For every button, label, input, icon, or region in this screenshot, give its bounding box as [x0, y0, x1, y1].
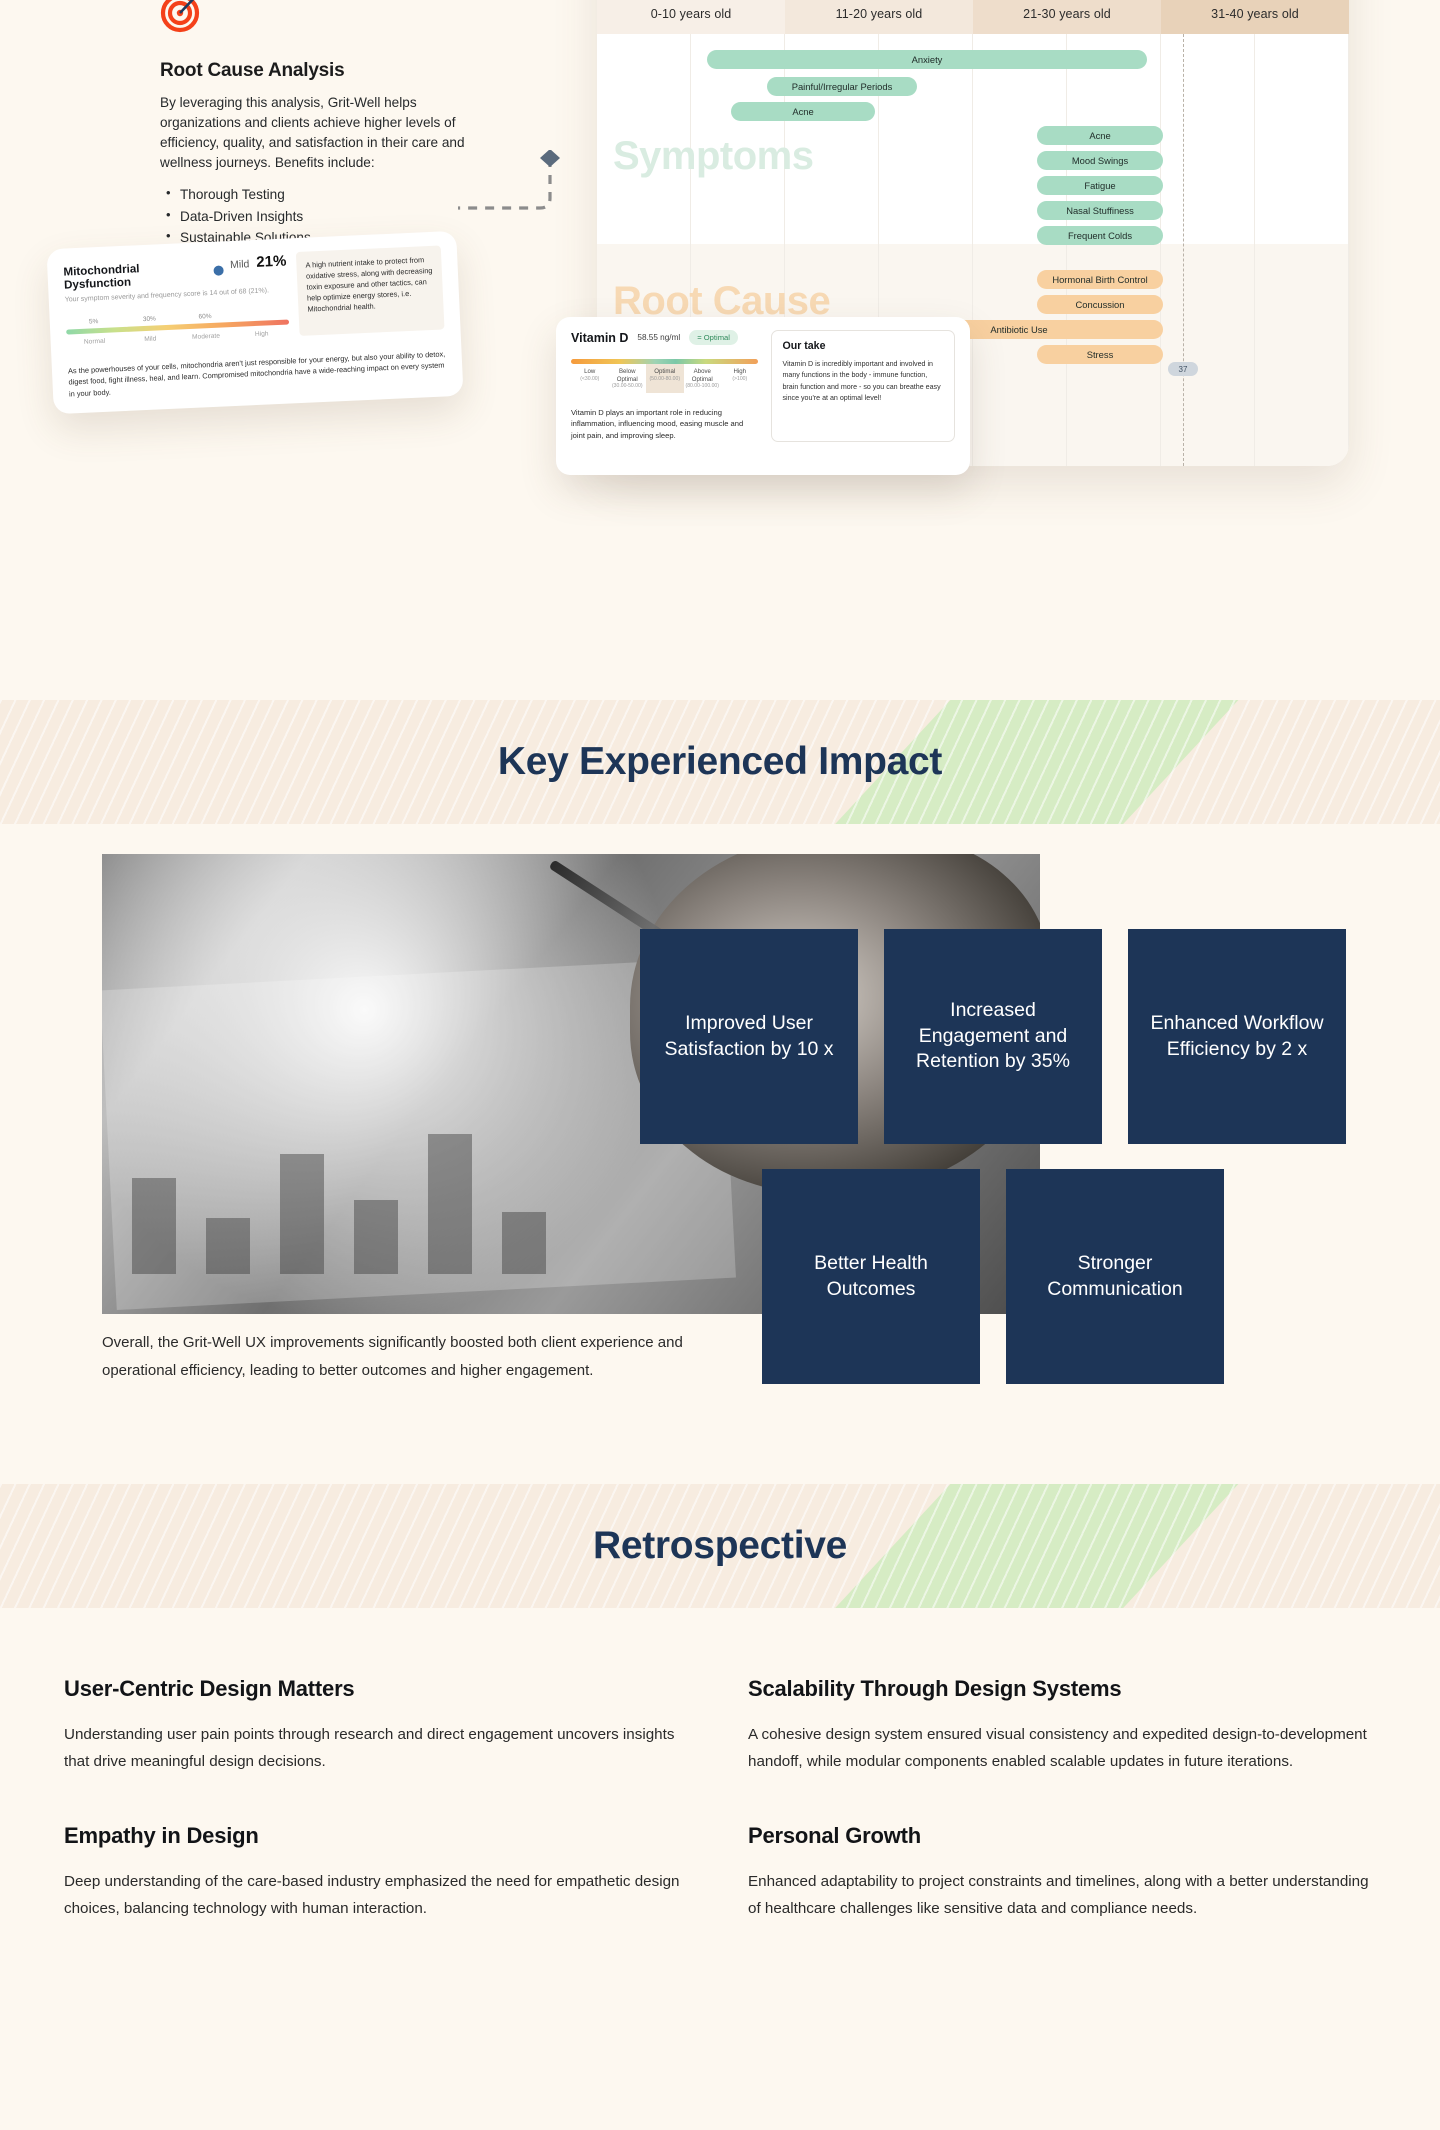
vitd-title: Vitamin D — [571, 331, 628, 345]
root-cause-analysis-block: Root Cause Analysis By leveraging this a… — [160, 0, 470, 269]
vitd-range-value: (<30.00) — [572, 376, 608, 382]
stat-card: Enhanced Workflow Efficiency by 2 x — [1128, 929, 1346, 1144]
timeline-pill: Anxiety — [707, 50, 1147, 69]
mito-label: Normal — [67, 337, 123, 347]
bar-chart-graphic — [122, 1094, 682, 1274]
timeline-header-row: 0-10 years old 11-20 years old 21-30 yea… — [597, 0, 1349, 34]
timeline-col-1: 11-20 years old — [785, 0, 973, 34]
retro-item-body: Deep understanding of the care-based ind… — [64, 1869, 692, 1922]
list-item: Thorough Testing — [160, 184, 470, 205]
retro-item-title: Scalability Through Design Systems — [748, 1676, 1376, 1702]
vitd-range-value: (>100) — [722, 376, 758, 382]
mito-label: Mild — [122, 335, 178, 345]
timeline-pill: Frequent Colds — [1037, 226, 1163, 245]
vitd-scale: Low(<30.00)Below Optimal(30.00-50.00)Opt… — [571, 359, 758, 393]
vitd-footer-text: Vitamin D plays an important role in red… — [571, 407, 758, 442]
vitd-range-name: Below Optimal — [610, 368, 646, 383]
target-dart-icon — [160, 0, 204, 34]
retrospective-banner: Retrospective — [0, 1484, 1440, 1608]
retro-item-body: Enhanced adaptability to project constra… — [748, 1869, 1376, 1922]
mito-title: Mitochondrial Dysfunction — [63, 259, 207, 291]
stat-card: Stronger Communication — [1006, 1169, 1224, 1384]
retrospective-section: User-Centric Design Matters Understandin… — [0, 1608, 1440, 2018]
vitd-range-name: High — [722, 368, 758, 376]
symptoms-watermark: Symptoms — [613, 134, 814, 179]
mito-severity: Mild — [230, 258, 250, 271]
vitd-range-cell: Low(<30.00) — [571, 364, 609, 393]
vitamin-d-card: Vitamin D 58.55 ng/ml = Optimal Low(<30.… — [556, 317, 970, 475]
retro-item-body: Understanding user pain points through r… — [64, 1722, 692, 1775]
mito-label: Moderate — [178, 332, 234, 342]
status-badge: = Optimal — [689, 330, 738, 345]
mito-side-note: A high nutrient intake to protect from o… — [296, 245, 445, 335]
vitd-range-cell: Optimal(50.00-80.00) — [646, 364, 684, 393]
retro-item: Empathy in Design Deep understanding of … — [64, 1823, 692, 1922]
vitd-range-cell: Above Optimal(80.00-100.00) — [684, 364, 722, 393]
our-take-panel: Our take Vitamin D is incredibly importa… — [771, 330, 955, 442]
root-cause-hero-section: Root Cause Analysis By leveraging this a… — [0, 0, 1440, 700]
impact-summary-text: Overall, the Grit-Well UX improvements s… — [102, 1329, 702, 1385]
impact-banner: Key Experienced Impact — [0, 700, 1440, 824]
mito-tick: 5% — [66, 317, 122, 327]
retro-item: User-Centric Design Matters Understandin… — [64, 1676, 692, 1775]
page-title: Key Experienced Impact — [498, 740, 942, 784]
timeline-pill: Stress — [1037, 345, 1163, 364]
vitd-range-value: (50.00-80.00) — [647, 376, 683, 382]
stat-card: Better Health Outcomes — [762, 1169, 980, 1384]
mito-tick: 60% — [177, 312, 233, 322]
root-cause-title: Root Cause Analysis — [160, 60, 470, 82]
timeline-pill: Fatigue — [1037, 176, 1163, 195]
retro-item-title: User-Centric Design Matters — [64, 1676, 692, 1702]
mito-percent: 21% — [256, 253, 287, 271]
vitd-range-cells: Low(<30.00)Below Optimal(30.00-50.00)Opt… — [571, 364, 758, 393]
impact-section: Improved User Satisfaction by 10 x Incre… — [0, 824, 1440, 1484]
mito-footer-text: As the powerhouses of your cells, mitoch… — [68, 348, 447, 400]
timeline-col-0: 0-10 years old — [597, 0, 785, 34]
retro-item: Personal Growth Enhanced adaptability to… — [748, 1823, 1376, 1922]
vitd-value: 58.55 ng/ml — [637, 333, 680, 342]
retro-item-body: A cohesive design system ensured visual … — [748, 1722, 1376, 1775]
our-take-title: Our take — [782, 340, 944, 352]
timeline-pill: Acne — [731, 102, 875, 121]
mito-tick: 30% — [121, 315, 177, 325]
today-marker-line — [1183, 34, 1184, 466]
page-title: Retrospective — [593, 1524, 847, 1568]
vitd-range-cell: Below Optimal(30.00-50.00) — [609, 364, 647, 393]
today-age-badge: 37 — [1168, 362, 1198, 376]
mitochondrial-dysfunction-card: Mitochondrial Dysfunction Mild 21% Your … — [46, 231, 463, 414]
vitd-range-name: Above Optimal — [685, 368, 721, 383]
root-cause-body: By leveraging this analysis, Grit-Well h… — [160, 93, 470, 173]
severity-dot-icon — [213, 265, 223, 275]
timeline-pill: Concussion — [1037, 295, 1163, 314]
retro-item-title: Personal Growth — [748, 1823, 1376, 1849]
our-take-body: Vitamin D is incredibly important and in… — [782, 359, 944, 404]
timeline-col-3: 31-40 years old — [1161, 0, 1349, 34]
retro-item: Scalability Through Design Systems A coh… — [748, 1676, 1376, 1775]
list-item: Data-Driven Insights — [160, 206, 470, 227]
vitd-range-name: Optimal — [647, 368, 683, 376]
stat-card: Improved User Satisfaction by 10 x — [640, 929, 858, 1144]
vitd-range-value: (80.00-100.00) — [685, 383, 721, 389]
dashed-connector-arrow — [440, 150, 560, 230]
retro-item-title: Empathy in Design — [64, 1823, 692, 1849]
timeline-pill: Mood Swings — [1037, 151, 1163, 170]
retrospective-grid: User-Centric Design Matters Understandin… — [64, 1676, 1376, 1922]
timeline-pill: Acne — [1037, 126, 1163, 145]
mito-label: High — [234, 329, 290, 339]
timeline-pill: Nasal Stuffiness — [1037, 201, 1163, 220]
timeline-col-2: 21-30 years old — [973, 0, 1161, 34]
vitd-range-cell: High(>100) — [721, 364, 759, 393]
portfolio-page: Root Cause Analysis By leveraging this a… — [0, 0, 1440, 2018]
vitd-range-name: Low — [572, 368, 608, 376]
timeline-pill: Hormonal Birth Control — [1037, 270, 1163, 289]
timeline-pill: Painful/Irregular Periods — [767, 77, 917, 96]
vitd-range-value: (30.00-50.00) — [610, 383, 646, 389]
stat-card: Increased Engagement and Retention by 35… — [884, 929, 1102, 1144]
